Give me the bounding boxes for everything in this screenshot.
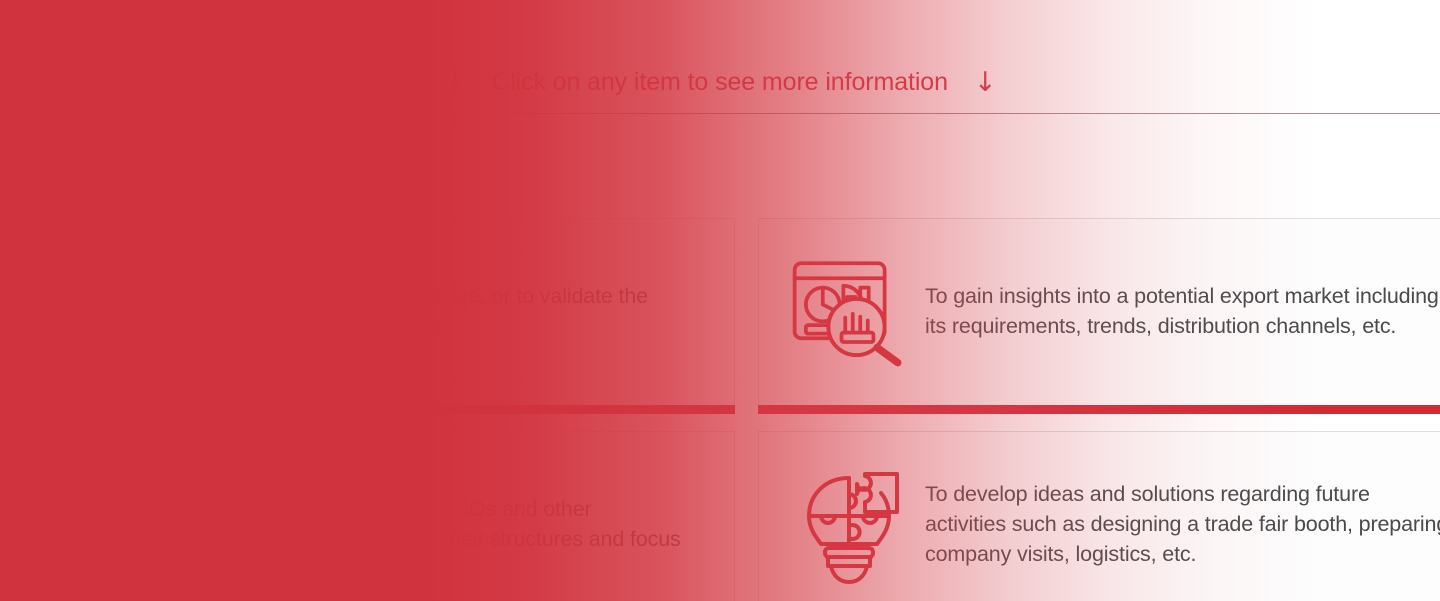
arrow-down-left-icon: ↓ (443, 69, 466, 96)
card-text: To develop ideas and solutions regarding… (925, 480, 1440, 570)
card-text: To deepen their own knowledge, or to val… (182, 282, 710, 342)
section-divider (0, 113, 1440, 114)
card-export-market-insights[interactable]: To gain insights into a potential export… (758, 218, 1440, 405)
card-text: To gain insights into a potential export… (925, 282, 1440, 342)
hamburger-menu-icon[interactable] (58, 8, 111, 27)
market-research-chart-magnifier-icon (789, 254, 909, 370)
people-network-icon (46, 464, 166, 586)
card-develop-ideas[interactable]: To develop ideas and solutions regarding… (758, 431, 1440, 601)
arrow-down-right-icon: ↓ (974, 69, 997, 96)
card-text: To network, meeting (local) BSOs and oth… (182, 495, 710, 555)
card-accent-bar (758, 405, 1440, 414)
menu-line-1 (58, 10, 111, 15)
card-accent-bar (15, 405, 735, 414)
puzzle-lightbulb-icon (789, 466, 909, 584)
instruction-text: Click on any item to see more informatio… (492, 68, 948, 97)
page-root: ↓ Click on any item to see more informat… (0, 0, 1440, 601)
card-deepen-knowledge[interactable]: To deepen their own knowledge, or to val… (15, 218, 735, 405)
lightbulb-book-icon (46, 258, 166, 366)
person-logo-icon[interactable] (10, 1, 44, 33)
card-networking[interactable]: To network, meeting (local) BSOs and oth… (15, 431, 735, 601)
page-title: BSO staff (12, 128, 138, 162)
menu-line-2 (58, 22, 91, 27)
instruction-banner: ↓ Click on any item to see more informat… (0, 56, 1440, 108)
top-bar (0, 0, 1440, 34)
card-grid: To deepen their own knowledge, or to val… (15, 218, 1440, 601)
